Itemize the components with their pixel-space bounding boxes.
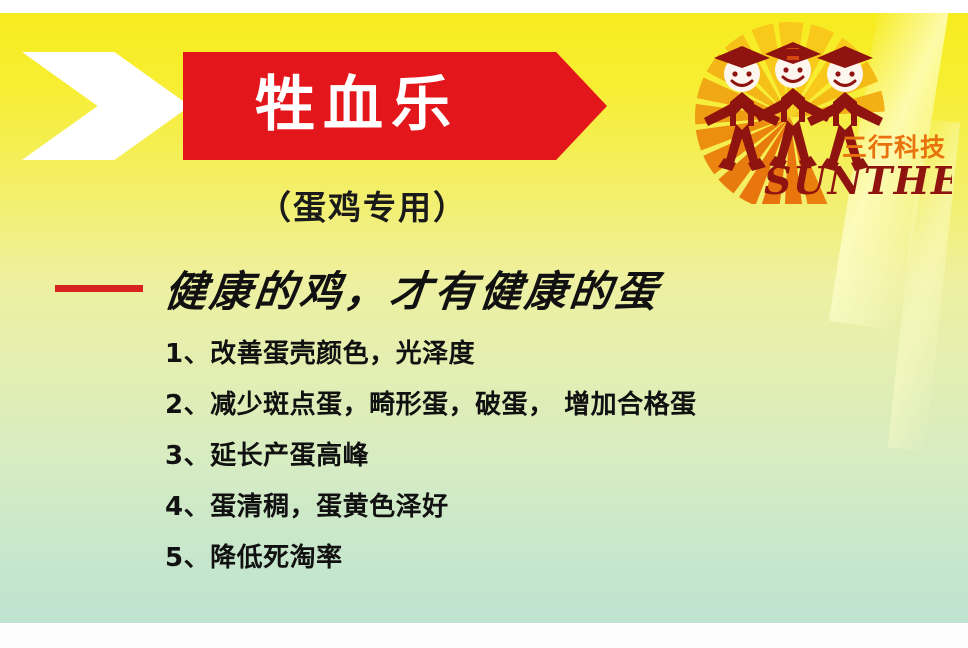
list-item: 4、蛋清稠，蛋黄色泽好 [165,494,865,520]
slogan-row: 健康的鸡，才有健康的蛋 [55,258,660,319]
bottom-white-margin [0,623,968,648]
list-item: 1、改善蛋壳颜色，光泽度 [165,341,865,367]
logo-english-name: SUNTHEME [764,158,952,203]
product-subtitle: （蛋鸡专用） [258,181,468,229]
benefit-list: 1、改善蛋壳颜色，光泽度 2、减少斑点蛋，畸形蛋，破蛋， 增加合格蛋 3、延长产… [165,341,865,571]
product-title-banner: 牲血乐 [183,52,607,160]
list-item: 3、延长产蛋高峰 [165,443,865,469]
poster-canvas: 牲血乐 （蛋鸡专用） 健康的鸡，才有健康的蛋 1、改善蛋壳颜色，光泽度 2、减少… [0,0,968,648]
top-white-margin [0,0,968,13]
company-logo: 三行科技 SUNTHEME [690,22,952,204]
list-item: 5、降低死淘率 [165,545,865,571]
slogan-dash-icon [55,285,143,292]
product-title: 牲血乐 [255,75,459,135]
list-item: 2、减少斑点蛋，畸形蛋，破蛋， 增加合格蛋 [165,392,865,418]
slogan-text: 健康的鸡，才有健康的蛋 [162,258,663,319]
